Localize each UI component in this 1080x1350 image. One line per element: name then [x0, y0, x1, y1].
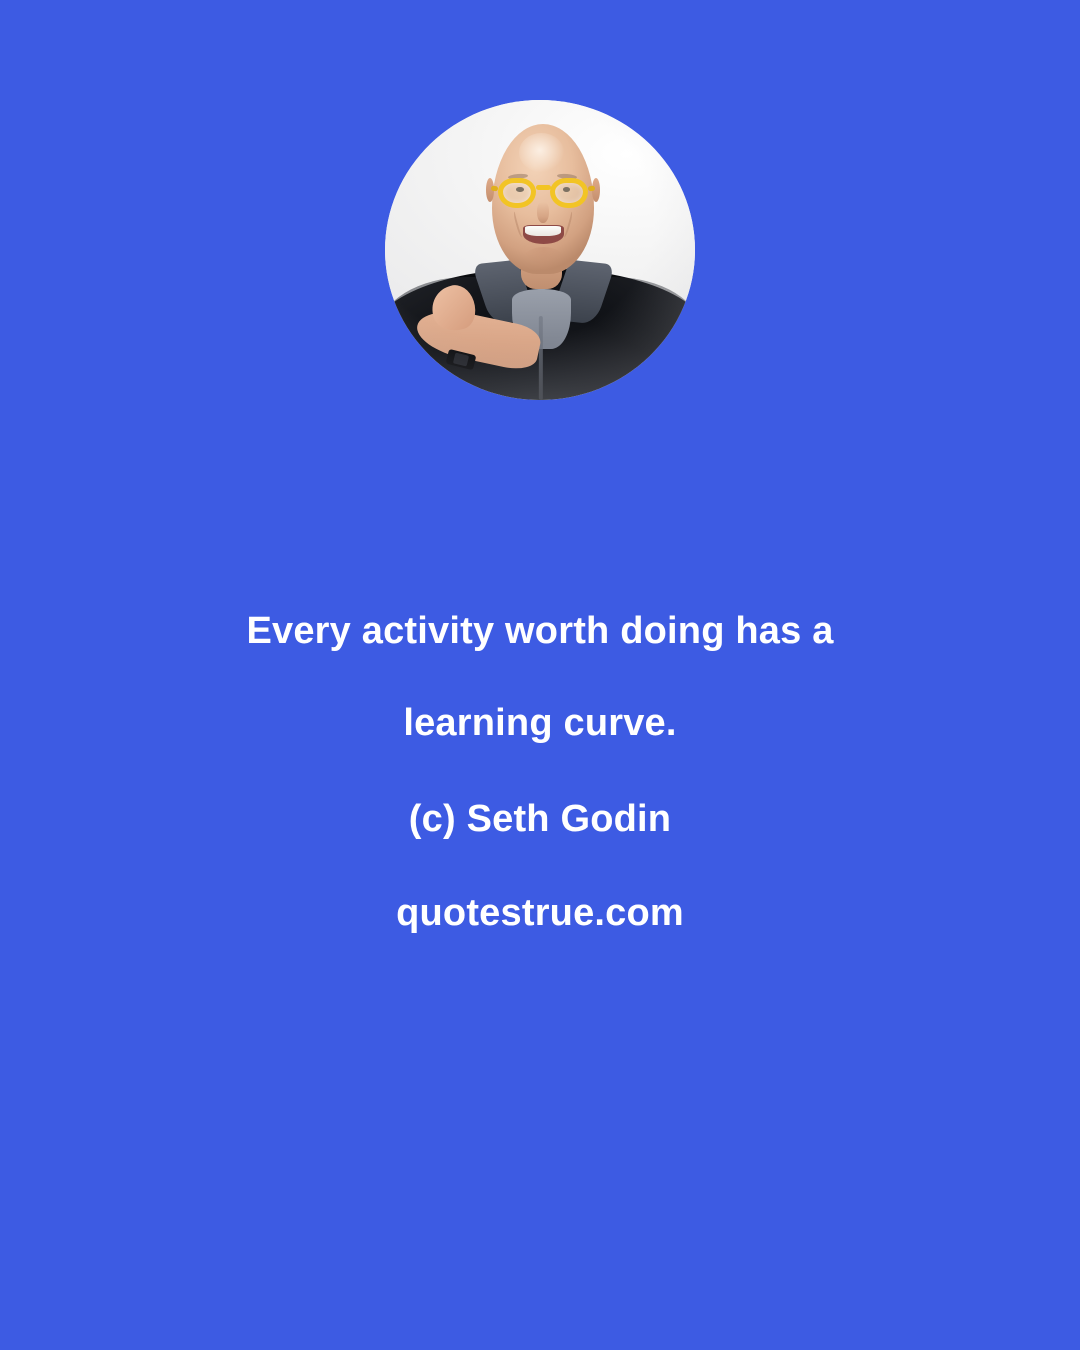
photo-vignette	[385, 100, 695, 400]
avatar	[385, 100, 695, 400]
site-watermark: quotestrue.com	[0, 889, 1080, 937]
quote-line-1: Every activity worth doing has a	[0, 585, 1080, 677]
quote-card: Every activity worth doing has a learnin…	[0, 0, 1080, 1350]
quote-text-block: Every activity worth doing has a learnin…	[0, 585, 1080, 937]
quote-line-2: learning curve.	[0, 677, 1080, 769]
portrait-photo	[385, 100, 695, 400]
quote-author: (c) Seth Godin	[0, 795, 1080, 843]
